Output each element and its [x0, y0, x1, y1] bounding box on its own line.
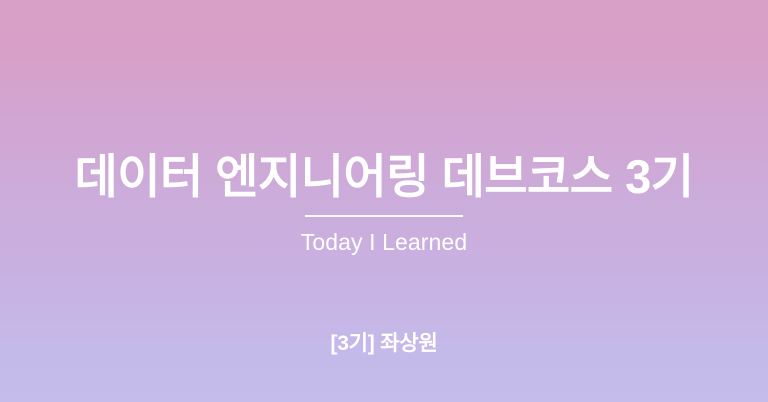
author-credit: [3기] 좌상원 — [0, 330, 768, 358]
title-divider — [305, 215, 463, 217]
banner-cover: 데이터 엔지니어링 데브코스 3기 Today I Learned [3기] 좌… — [0, 0, 768, 402]
banner-subtitle: Today I Learned — [0, 227, 768, 257]
page-title: 데이터 엔지니어링 데브코스 3기 — [0, 148, 768, 206]
